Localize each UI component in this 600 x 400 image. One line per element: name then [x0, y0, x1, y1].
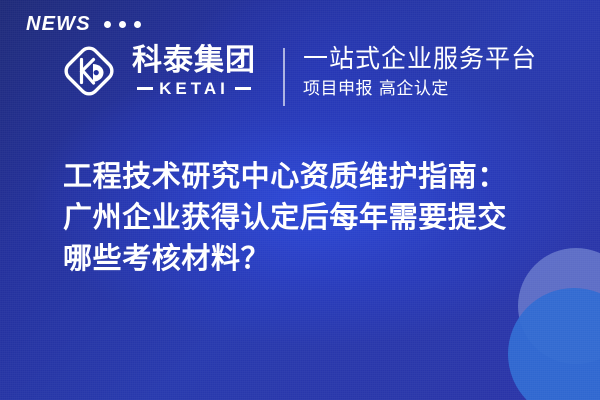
vertical-divider: [283, 48, 285, 106]
headline-line-3: 哪些考核材料？: [63, 238, 563, 279]
headline: 工程技术研究中心资质维护指南： 广州企业获得认定后每年需要提交 哪些考核材料？: [63, 156, 563, 279]
brand-name-cn: 科泰集团: [132, 45, 256, 77]
news-dots-icon: [104, 21, 141, 28]
slogan-secondary: 项目申报 高企认定: [303, 79, 537, 99]
news-dot-1: [104, 21, 111, 28]
slogan-primary: 一站式企业服务平台: [303, 44, 537, 74]
slogan-block: 一站式企业服务平台 项目申报 高企认定: [303, 44, 537, 99]
dash-right-icon: [235, 87, 251, 90]
dash-left-icon: [137, 87, 153, 90]
brand-wordmark: 科泰集团 KETAI: [132, 45, 256, 97]
news-dot-2: [119, 21, 126, 28]
brand-name-en: KETAI: [159, 80, 229, 97]
news-dot-3: [134, 21, 141, 28]
headline-line-2: 广州企业获得认定后每年需要提交: [63, 197, 563, 238]
ketai-diamond-k-logo-icon: [62, 44, 116, 98]
brand-name-en-row: KETAI: [137, 80, 251, 97]
news-badge: NEWS: [26, 14, 141, 34]
news-label: NEWS: [26, 14, 91, 34]
headline-line-1: 工程技术研究中心资质维护指南：: [63, 156, 563, 197]
brand-logo: 科泰集团 KETAI: [62, 44, 256, 98]
news-banner: NEWS 科泰集团: [0, 0, 600, 400]
